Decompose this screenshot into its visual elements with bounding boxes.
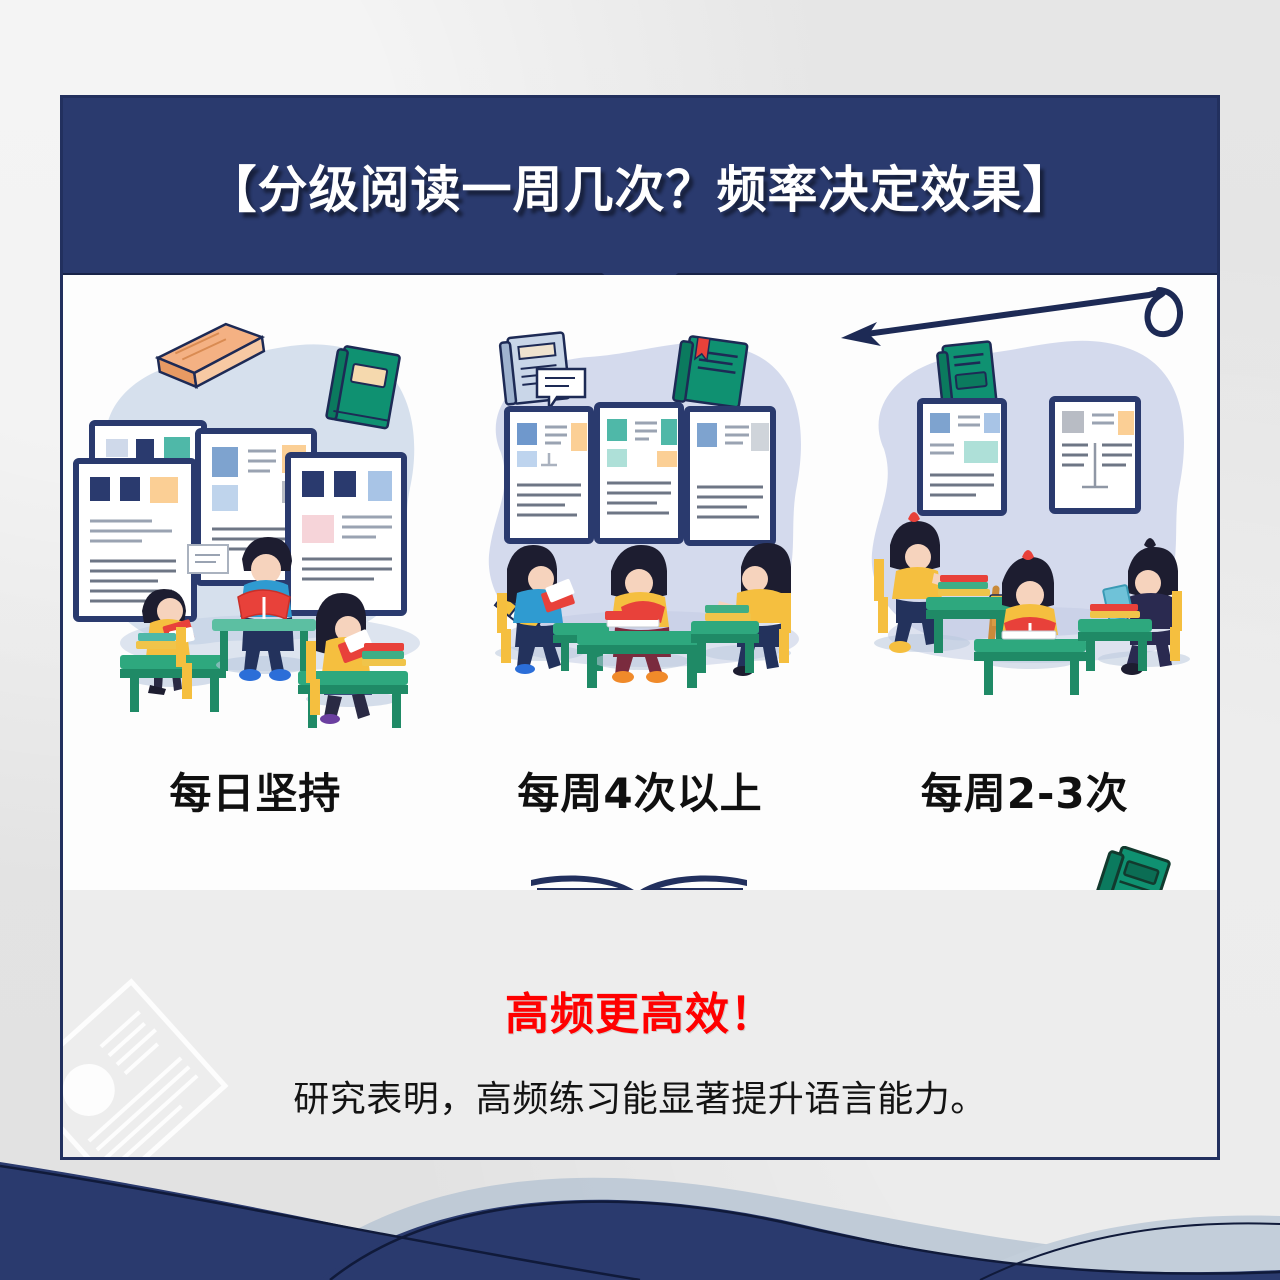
- caption-daily: 每日坚持: [169, 760, 341, 821]
- document-poster: [507, 409, 591, 541]
- caption-cell-daily: 每日坚持: [63, 745, 448, 835]
- document-stamp-icon: [60, 977, 241, 1160]
- infographic-card: 【分级阅读一周几次？频率决定效果】: [60, 95, 1220, 1160]
- illustration-zone: 每日坚持 每周4次以上 每周2-3次: [63, 275, 1217, 890]
- green-book-icon: [673, 335, 748, 410]
- document-poster: [1052, 399, 1138, 511]
- small-note-icon: [188, 545, 228, 573]
- message-subline: 研究表明，高频练习能显著提升语言能力。: [293, 1070, 987, 1122]
- caption-cell-two-three: 每周2-3次: [832, 745, 1217, 835]
- message-headline: 高频更高效！: [505, 978, 775, 1042]
- message-zone: 高频更高效！ 研究表明，高频练习能显著提升语言能力。: [63, 890, 1217, 1160]
- panel-captions: 每日坚持 每周4次以上 每周2-3次: [63, 745, 1217, 835]
- panel-two-three: [832, 313, 1217, 813]
- green-book-icon: [326, 345, 400, 429]
- document-poster: [687, 409, 773, 543]
- caption-four-plus: 每周4次以上: [517, 760, 762, 821]
- page-title: 【分级阅读一周几次？频率决定效果】: [207, 150, 1074, 222]
- document-poster: [920, 401, 1004, 513]
- panel-daily: [63, 313, 448, 813]
- caption-cell-four-plus: 每周4次以上: [448, 745, 833, 835]
- illustration-panels: [63, 313, 1217, 813]
- caption-two-three: 每周2-3次: [921, 760, 1129, 821]
- card-header: 【分级阅读一周几次？频率决定效果】: [63, 98, 1217, 275]
- document-poster: [288, 455, 404, 613]
- panel-four-plus: [448, 313, 833, 813]
- document-poster: [597, 405, 681, 541]
